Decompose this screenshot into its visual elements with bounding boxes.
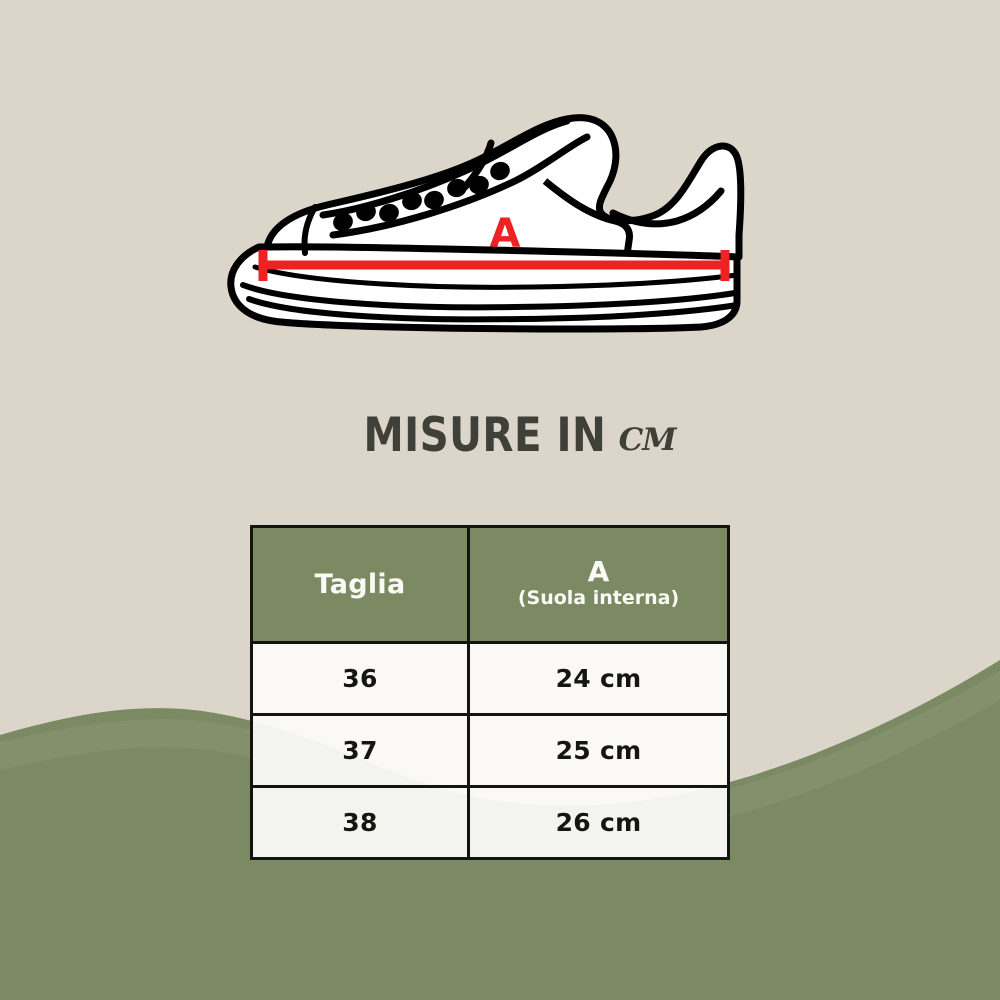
table-row: 36 24 cm <box>252 643 729 715</box>
column-header-taglia: Taglia <box>252 527 469 643</box>
column-header-taglia-label: Taglia <box>314 569 405 600</box>
sneaker-illustration: A <box>215 95 775 350</box>
title-unit-text: cm <box>619 410 676 461</box>
cell-size: 36 <box>252 643 469 715</box>
column-header-insole-label: A <box>470 557 727 586</box>
cell-size: 38 <box>252 787 469 859</box>
cell-insole: 26 cm <box>469 787 729 859</box>
page-title: MISURE INcm <box>0 408 1000 463</box>
measure-label-a: A <box>490 211 521 257</box>
cell-insole: 25 cm <box>469 715 729 787</box>
table-row: 37 25 cm <box>252 715 729 787</box>
size-chart-canvas: A MISURE INcm Taglia A (Suola interna) <box>0 0 1000 1000</box>
cell-size: 37 <box>252 715 469 787</box>
table-header: Taglia A (Suola interna) <box>252 527 729 643</box>
title-main-text: MISURE IN <box>364 408 607 463</box>
table-header-row: Taglia A (Suola interna) <box>252 527 729 643</box>
sneaker-group: A <box>231 118 741 329</box>
cell-insole: 24 cm <box>469 643 729 715</box>
size-table: Taglia A (Suola interna) 36 24 cm 37 25 … <box>250 525 730 860</box>
column-header-insole-sublabel: (Suola interna) <box>470 586 727 612</box>
table-row: 38 26 cm <box>252 787 729 859</box>
table-body: 36 24 cm 37 25 cm 38 26 cm <box>252 643 729 859</box>
column-header-insole: A (Suola interna) <box>469 527 729 643</box>
